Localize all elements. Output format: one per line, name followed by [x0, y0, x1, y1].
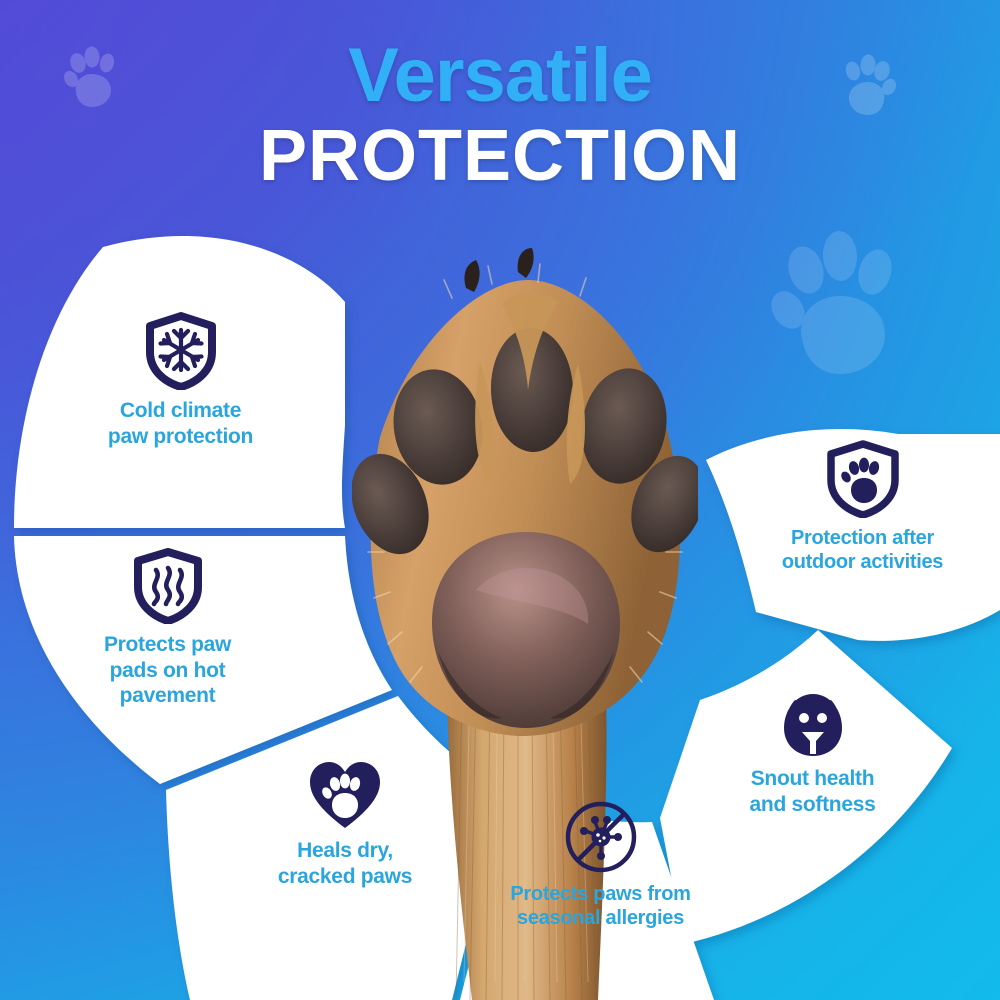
dog-face-icon: [774, 692, 852, 758]
shield-paw-icon: [827, 440, 899, 518]
no-allergen-icon: [564, 800, 638, 874]
benefit-hot-pavement[interactable]: Protects paw pads on hot pavement: [60, 548, 275, 709]
shield-snowflake-icon: [146, 312, 216, 390]
benefit-label: Protects paws from seasonal allergies: [510, 882, 690, 931]
title-line-main: PROTECTION: [0, 114, 1000, 199]
benefit-label: Snout health and softness: [750, 766, 876, 817]
benefit-outdoor-activities[interactable]: Protection after outdoor activities: [735, 440, 990, 575]
benefit-snout-health[interactable]: Snout health and softness: [705, 692, 920, 817]
benefit-allergies[interactable]: Protects paws from seasonal allergies: [468, 800, 733, 931]
benefit-label: Protects paw pads on hot pavement: [104, 632, 231, 709]
heart-paw-icon: [308, 760, 382, 830]
benefit-cold-climate[interactable]: Cold climate paw protection: [68, 312, 293, 449]
headline-block: Versatile PROTECTION: [0, 38, 1000, 199]
benefit-cracked-paws[interactable]: Heals dry, cracked paws: [240, 760, 450, 889]
benefit-label: Cold climate paw protection: [108, 398, 253, 449]
benefit-label: Heals dry, cracked paws: [278, 838, 412, 889]
benefit-label: Protection after outdoor activities: [782, 526, 943, 575]
shield-heatwave-icon: [134, 548, 202, 624]
title-line-accent: Versatile: [0, 38, 1000, 114]
